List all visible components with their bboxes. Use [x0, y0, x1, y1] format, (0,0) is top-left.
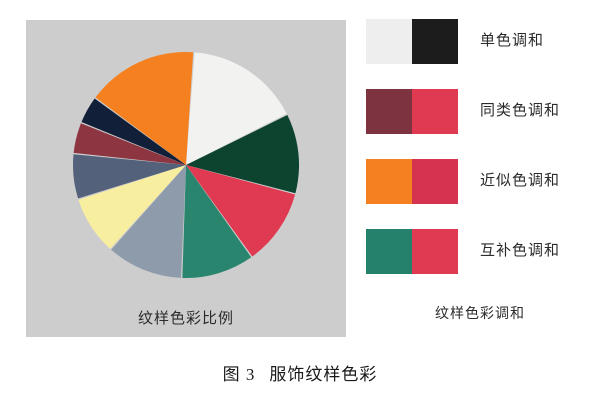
swatch-half-left — [366, 229, 412, 274]
legend-label-same-family: 同类色调和 — [480, 104, 560, 119]
pie-slices-group — [73, 52, 299, 278]
legend-label-monochrome: 单色调和 — [480, 34, 544, 49]
pie-chart-caption: 纹样色彩比例 — [26, 312, 346, 327]
legend-row-analogous-same-family: 同类色调和 — [366, 88, 594, 134]
swatch-half-left — [366, 19, 412, 64]
swatch-half-left — [366, 159, 412, 204]
figure-caption: 图 3服饰纹样色彩 — [0, 366, 600, 383]
figure-container: 纹样色彩比例 单色调和 同类色调和 近似色调和 — [0, 0, 600, 411]
swatch-half-right — [412, 229, 458, 274]
color-harmony-legend: 单色调和 同类色调和 近似色调和 互补色调和 — [366, 18, 594, 278]
swatch-monochrome — [366, 19, 458, 64]
legend-row-monochrome: 单色调和 — [366, 18, 594, 64]
swatch-analogous — [366, 159, 458, 204]
figure-caption-number: 图 3 — [223, 365, 256, 384]
legend-row-complementary: 互补色调和 — [366, 228, 594, 274]
swatch-half-right — [412, 89, 458, 134]
swatch-complementary — [366, 229, 458, 274]
legend-caption: 纹样色彩调和 — [366, 308, 594, 322]
legend-row-analogous: 近似色调和 — [366, 158, 594, 204]
swatch-half-right — [412, 19, 458, 64]
pie-chart — [73, 52, 299, 278]
legend-label-complementary: 互补色调和 — [480, 244, 560, 259]
pie-chart-panel: 纹样色彩比例 — [26, 20, 346, 337]
swatch-half-right — [412, 159, 458, 204]
legend-label-analogous: 近似色调和 — [480, 174, 560, 189]
swatch-half-left — [366, 89, 412, 134]
figure-caption-title: 服饰纹样色彩 — [269, 365, 377, 384]
swatch-same-family — [366, 89, 458, 134]
